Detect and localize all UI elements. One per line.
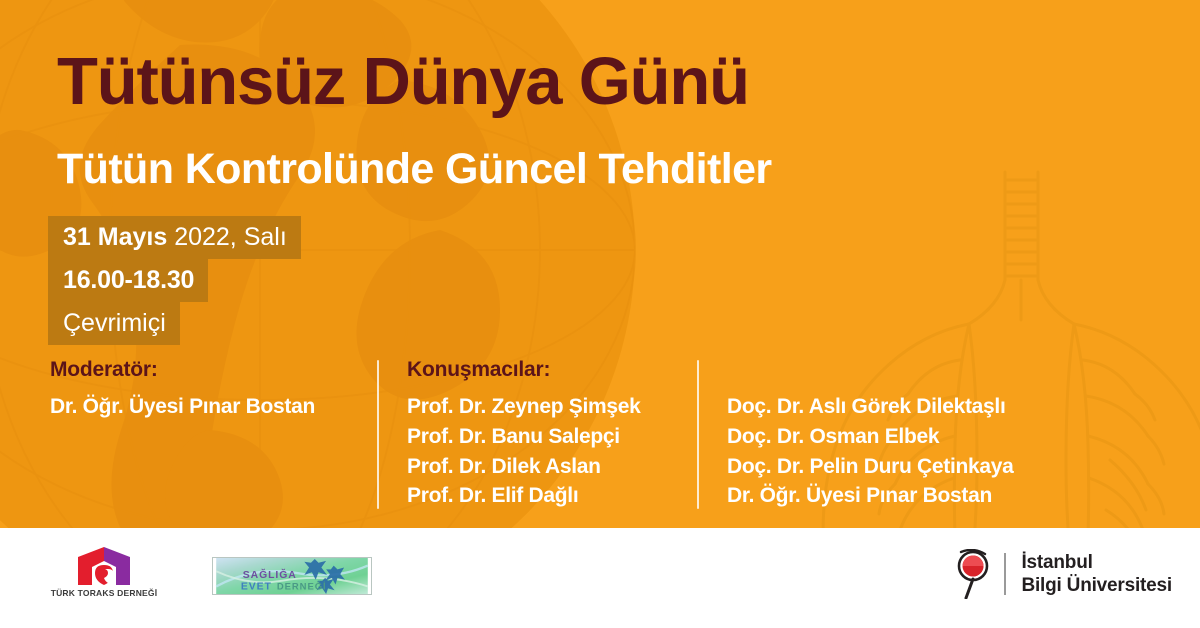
bilgi-pin-icon	[951, 549, 995, 599]
event-date-day: 31 Mayıs	[63, 223, 167, 251]
speaker-name: Doç. Dr. Aslı Görek Dilektaşlı	[727, 392, 1067, 422]
column-divider-1	[377, 360, 379, 509]
speaker-name: Prof. Dr. Banu Salepçi	[407, 422, 697, 452]
speaker-name: Prof. Dr. Dilek Aslan	[407, 452, 697, 482]
page-title: Tütünsüz Dünya Günü	[57, 48, 749, 115]
event-time: 16.00-18.30	[48, 259, 208, 302]
moderator-column: Moderatör: Dr. Öğr. Üyesi Pınar Bostan	[50, 358, 377, 422]
speaker-name: Dr. Öğr. Üyesi Pınar Bostan	[727, 481, 1067, 511]
event-date: 31 Mayıs 2022, Salı	[48, 216, 301, 259]
moderator-name: Dr. Öğr. Üyesi Pınar Bostan	[50, 392, 377, 422]
logo-sagliga-evet-dernegi: SAĞLIĞA EVET DERNEĞİ	[212, 557, 372, 595]
speaker-name: Prof. Dr. Elif Dağlı	[407, 481, 697, 511]
bilgi-line-2: Bilgi Üniversitesi	[1021, 574, 1172, 597]
page-subtitle: Tütün Kontrolünde Güncel Tehditler	[57, 148, 772, 191]
logo-sagliga-line2: EVET	[241, 581, 272, 592]
speakers-heading: Konuşmacılar:	[407, 358, 697, 382]
column-divider-2	[697, 360, 699, 509]
logo-turk-toraks-dernegi: TÜRK TORAKS DERNEĞİ	[48, 543, 158, 601]
event-meta-block: 31 Mayıs 2022, Salı 16.00-18.30 Çevrimiç…	[48, 216, 301, 345]
bilgi-line-1: İstanbul	[1021, 551, 1172, 574]
speaker-name: Prof. Dr. Zeynep Şimşek	[407, 392, 697, 422]
bilgi-wordmark: İstanbul Bilgi Üniversitesi	[1021, 551, 1172, 597]
logo-sagliga-line1: SAĞLIĞA	[243, 568, 297, 581]
poster-main-panel: Tütünsüz Dünya Günü Tütün Kontrolünde Gü…	[0, 0, 1200, 528]
poster-canvas: Tütünsüz Dünya Günü Tütün Kontrolünde Gü…	[0, 0, 1200, 628]
participants-section: Moderatör: Dr. Öğr. Üyesi Pınar Bostan K…	[50, 358, 1170, 511]
logo-turk-toraks-caption: TÜRK TORAKS DERNEĞİ	[48, 588, 160, 598]
logo-istanbul-bilgi-universitesi: İstanbul Bilgi Üniversitesi	[951, 548, 1172, 600]
speaker-name: Doç. Dr. Pelin Duru Çetinkaya	[727, 452, 1067, 482]
logo-divider	[1004, 553, 1006, 595]
event-date-year: 2022, Salı	[167, 223, 287, 251]
speakers-column-a: Konuşmacılar: Prof. Dr. Zeynep Şimşek Pr…	[407, 358, 697, 511]
speakers-column-b: Konuşmacılar: Doç. Dr. Aslı Görek Dilekt…	[727, 358, 1067, 511]
logo-sagliga-line3: DERNEĞİ	[277, 580, 327, 592]
speaker-name: Doç. Dr. Osman Elbek	[727, 422, 1067, 452]
event-mode: Çevrimiçi	[48, 302, 180, 345]
moderator-heading: Moderatör:	[50, 358, 377, 382]
